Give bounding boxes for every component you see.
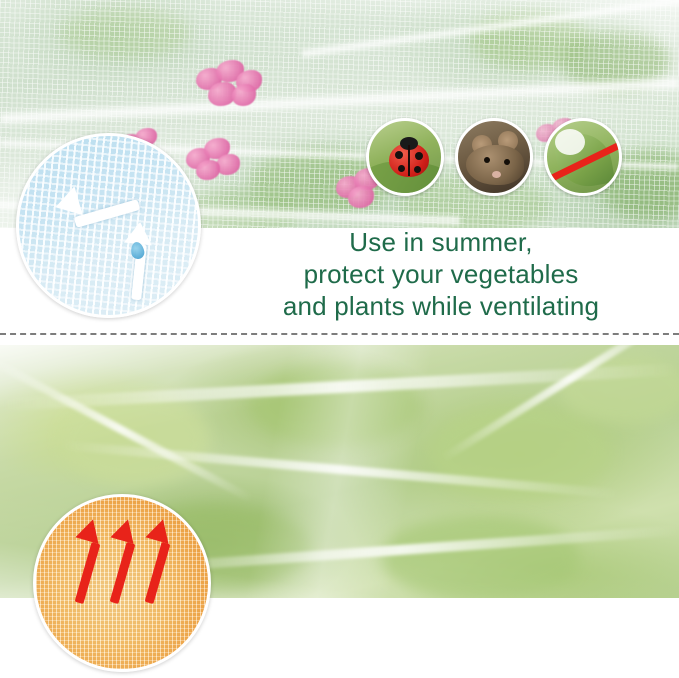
winter-panel: Use in winter, keep warm, prevent vegeta… — [0, 345, 679, 678]
summer-caption: Use in summer, protect your vegetables a… — [210, 226, 672, 322]
summer-panel: Use in summer, protect your vegetables a… — [0, 0, 679, 330]
pest-blocked-inset — [544, 118, 622, 196]
dashed-divider — [0, 333, 679, 335]
pink-flower — [196, 60, 266, 108]
heat-retention-inset — [33, 494, 211, 672]
ladybug-inset — [366, 118, 444, 196]
mouse-inset — [455, 118, 533, 196]
mouse-icon — [466, 145, 524, 185]
summer-caption-line-1: Use in summer, — [210, 226, 672, 258]
airflow-inset — [16, 133, 201, 318]
mesh-closeup-texture — [19, 136, 198, 315]
product-infographic: Use in summer, protect your vegetables a… — [0, 0, 679, 678]
summer-caption-line-2: protect your vegetables — [210, 258, 672, 290]
summer-caption-line-3: and plants while ventilating — [210, 290, 672, 322]
